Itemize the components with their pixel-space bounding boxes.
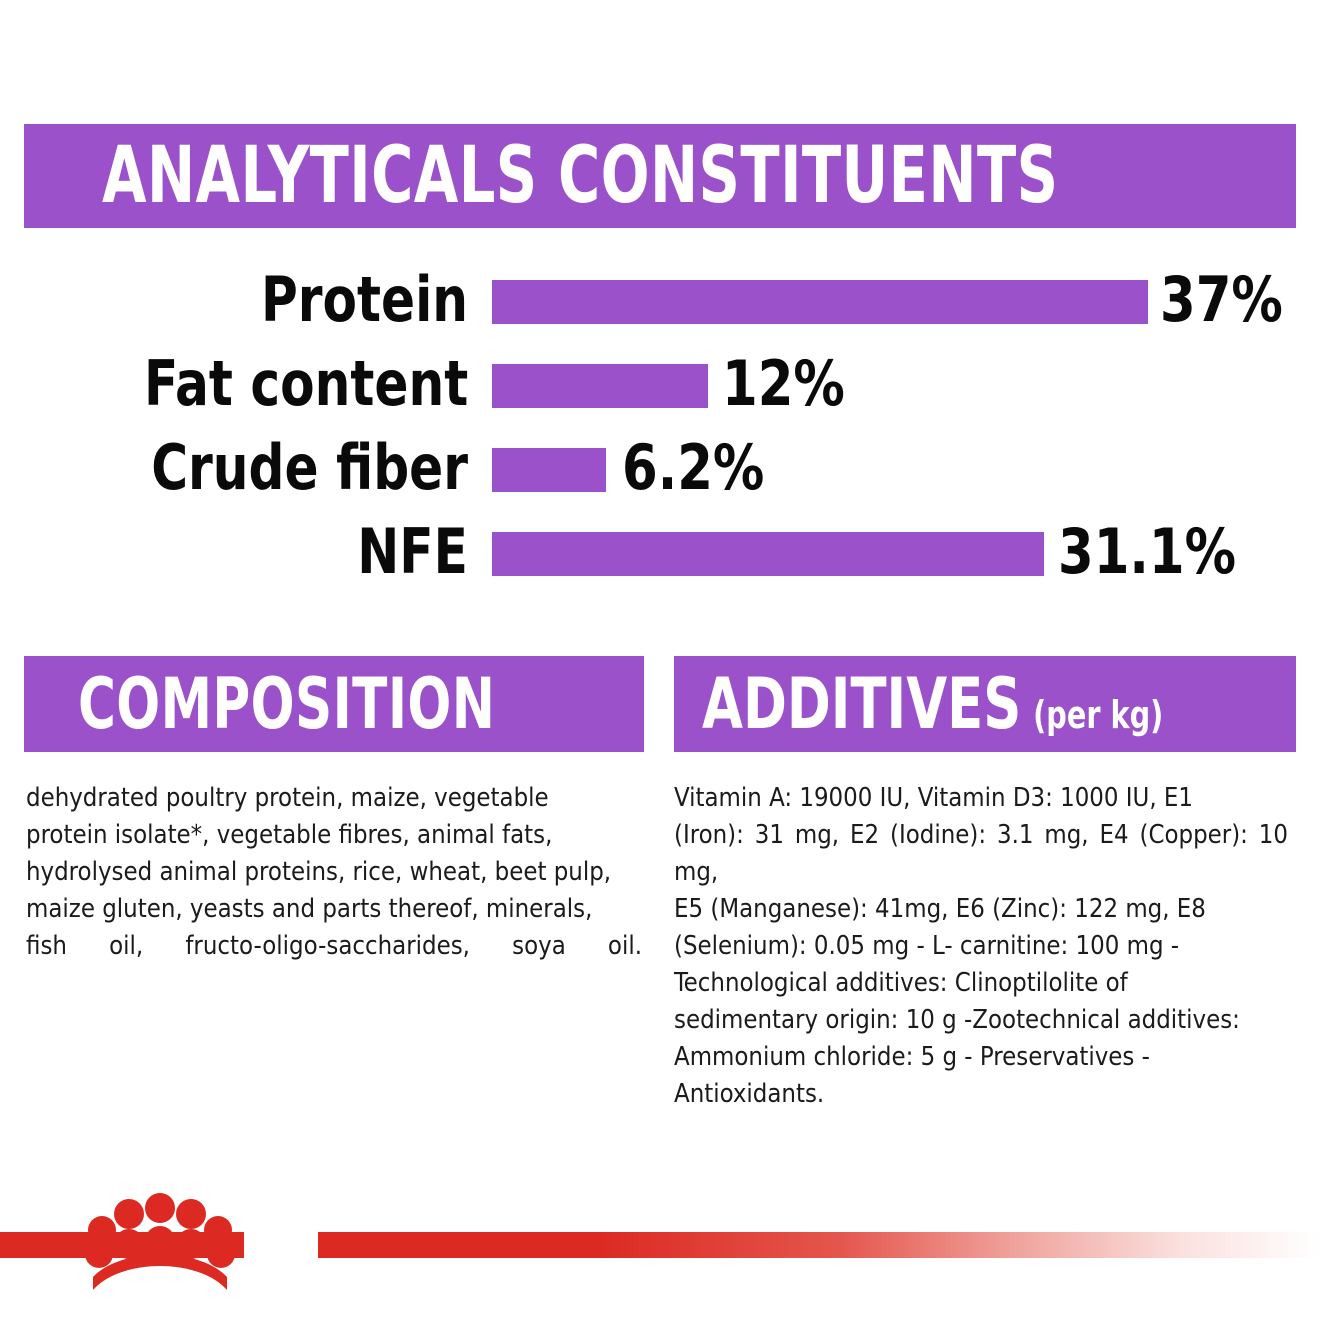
additives-line: (Iron): 31 mg, E2 (Iodine): 3.1 mg, E4 (… <box>674 817 1288 891</box>
chart-row: NFE 31.1% <box>0 510 1320 594</box>
chart-row: Fat content 12% <box>0 342 1320 426</box>
composition-header-title: COMPOSITION <box>78 669 495 739</box>
bar-label-crude-fiber: Crude fiber <box>151 426 468 510</box>
footer <box>0 1188 1320 1320</box>
analyticals-header-bar: ANALYTICALS CONSTITUENTS <box>24 124 1296 228</box>
composition-line: protein isolate*, vegetable fibres, anim… <box>26 817 642 854</box>
additives-line: Ammonium chloride: 5 g - Preservatives - <box>674 1039 1288 1076</box>
additives-line: (Selenium): 0.05 mg - L- carnitine: 100 … <box>674 928 1288 965</box>
additives-header-subtitle: (per kg) <box>1033 696 1163 734</box>
additives-header-bar: ADDITIVES (per kg) <box>674 656 1296 752</box>
bar-value-nfe: 31.1% <box>1058 510 1236 594</box>
chart-row: Protein 37% <box>0 258 1320 342</box>
footer-stripe-right <box>318 1232 1320 1258</box>
additives-line: Technological additives: Clinoptilolite … <box>674 965 1288 1002</box>
chart-row: Crude fiber 6.2% <box>0 426 1320 510</box>
additives-line: Antioxidants. <box>674 1076 1288 1113</box>
bar-fill-nfe <box>492 532 1044 576</box>
royal-canin-crown-icon <box>85 1192 235 1302</box>
bar-value-protein: 37% <box>1160 258 1283 342</box>
additives-line: Vitamin A: 19000 IU, Vitamin D3: 1000 IU… <box>674 780 1288 817</box>
additives-header-title: ADDITIVES <box>702 669 1021 739</box>
bar-fill-fat-content <box>492 364 708 408</box>
additives-line: sedimentary origin: 10 g -Zootechnical a… <box>674 1002 1288 1039</box>
composition-line: maize gluten, yeasts and parts thereof, … <box>26 891 642 928</box>
bar-label-nfe: NFE <box>357 510 468 594</box>
analyticals-header-title: ANALYTICALS CONSTITUENTS <box>102 137 1059 215</box>
bar-value-crude-fiber: 6.2% <box>622 426 764 510</box>
composition-text: dehydrated poultry protein, maize, veget… <box>26 780 642 965</box>
additives-line: E5 (Manganese): 41mg, E6 (Zinc): 122 mg,… <box>674 891 1288 928</box>
bar-fill-protein <box>492 280 1148 324</box>
composition-line: dehydrated poultry protein, maize, veget… <box>26 780 642 817</box>
additives-text: Vitamin A: 19000 IU, Vitamin D3: 1000 IU… <box>674 780 1288 1113</box>
bar-fill-crude-fiber <box>492 448 606 492</box>
composition-header-bar: COMPOSITION <box>24 656 644 752</box>
analyticals-bar-chart: Protein 37% Fat content 12% Crude fiber … <box>0 258 1320 618</box>
bar-label-fat-content: Fat content <box>144 342 468 426</box>
bar-label-protein: Protein <box>261 258 468 342</box>
composition-line: hydrolysed animal proteins, rice, wheat,… <box>26 854 642 891</box>
composition-line: fish oil, fructo-oligo-saccharides, soya… <box>26 928 642 965</box>
nutrition-panel: ANALYTICALS CONSTITUENTS Protein 37% Fat… <box>0 0 1320 1320</box>
bar-value-fat-content: 12% <box>722 342 845 426</box>
